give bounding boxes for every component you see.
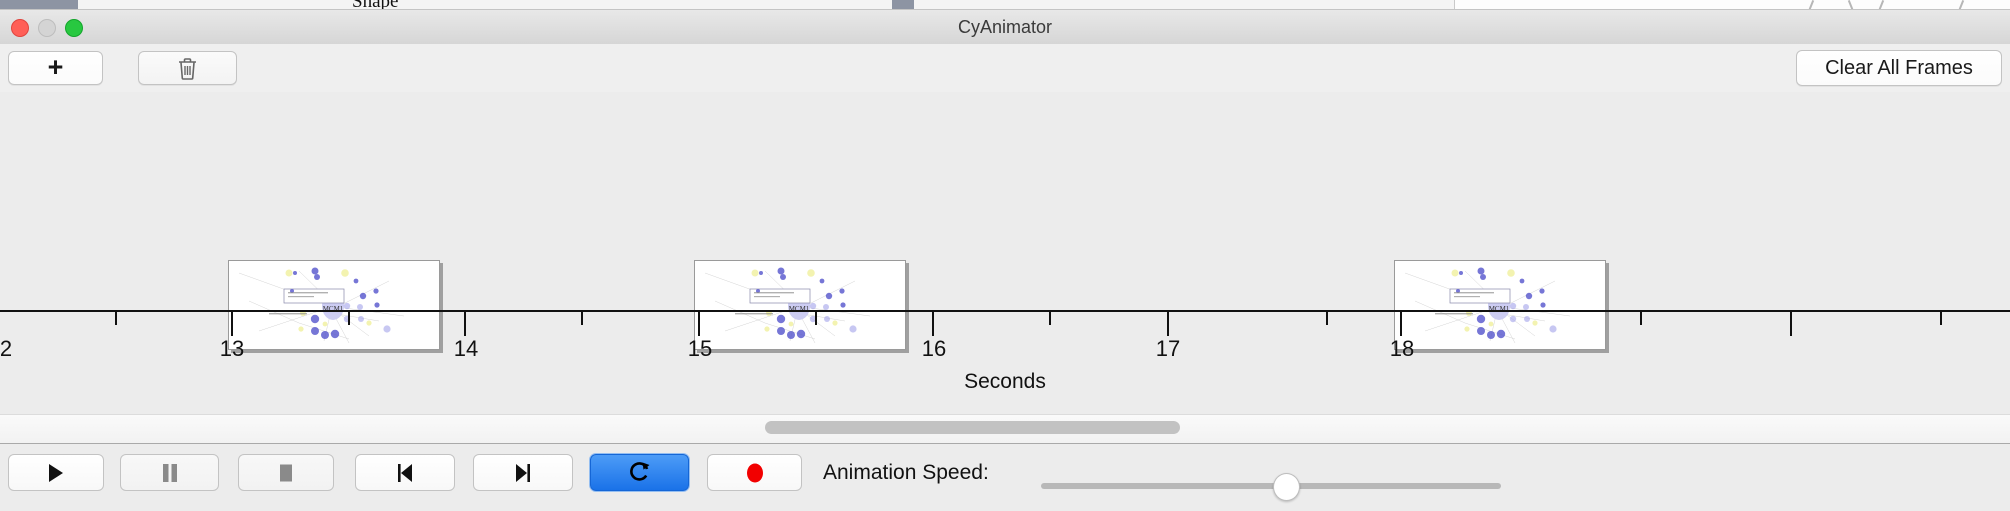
ruler-tick-minor [1640,312,1642,325]
network-thumbnail-graphic: MCM1 [229,261,439,349]
next-frame-button[interactable] [473,454,573,491]
loop-button[interactable] [590,454,689,491]
ruler-tick-minor [815,312,817,325]
delete-frame-button[interactable] [138,51,237,85]
ruler-tick-minor [115,312,117,325]
ruler-label: 15 [688,336,712,362]
stop-icon [277,463,295,483]
pause-button[interactable] [120,454,219,491]
previous-frame-button[interactable] [355,454,455,491]
ruler-label: 14 [454,336,478,362]
playback-control-bar: Animation Speed: [0,443,2010,511]
ruler-tick-major [1167,312,1169,336]
network-thumbnail-graphic: MCM1 [695,261,905,349]
loop-icon [629,461,651,484]
ruler-tick-major [698,312,700,336]
ruler-tick-minor [1940,312,1942,325]
title-bar: CyAnimator [0,10,2010,45]
ruler-label: 17 [1156,336,1180,362]
ruler-tick-major [1400,312,1402,336]
animation-speed-label: Animation Speed: [823,456,989,490]
ruler-tick-minor [1326,312,1328,325]
clear-all-frames-button[interactable]: Clear All Frames [1796,50,2002,86]
ruler-tick-minor [581,312,583,325]
animation-speed-slider-track[interactable] [1041,483,1501,489]
record-icon [745,462,765,484]
record-button[interactable] [707,454,802,491]
ruler-tick-major [464,312,466,336]
play-icon [47,463,65,483]
frame-thumbnail[interactable]: MCM1 [228,260,440,350]
timeline-panel[interactable]: MCM1 [0,92,2010,414]
ruler-label: 13 [220,336,244,362]
play-button[interactable] [8,454,104,491]
ruler-tick-minor [1049,312,1051,325]
axis-title-seconds: Seconds [0,370,2010,394]
ruler-tick-major [1790,312,1792,336]
ruler-tick-major [231,312,233,336]
skip-previous-icon [395,463,415,483]
skip-next-icon [513,463,533,483]
ruler-label: 16 [922,336,946,362]
network-thumbnail-graphic: MCM1 [1395,261,1605,349]
ruler-tick-minor [348,312,350,325]
ruler-label: 2 [0,336,12,362]
plus-icon: + [48,54,64,81]
window-title: CyAnimator [0,10,2010,44]
frame-thumbnail[interactable]: MCM1 [1394,260,1606,350]
clear-all-frames-label: Clear All Frames [1825,57,1973,80]
frame-thumbnail[interactable]: MCM1 [694,260,906,350]
pause-icon [161,463,179,483]
ruler-label: 18 [1390,336,1414,362]
cyanimator-window: Shape CyAnimator + Clear All Frames [0,0,2010,510]
trash-icon [177,57,198,80]
timeline-scrollbar-thumb[interactable] [765,421,1180,434]
animation-speed-slider-thumb[interactable] [1273,473,1300,501]
toolbar: + Clear All Frames [0,44,2010,93]
ruler-tick-major [932,312,934,336]
stop-button[interactable] [238,454,334,491]
add-frame-button[interactable]: + [8,51,103,85]
timeline-ruler [0,310,2010,312]
